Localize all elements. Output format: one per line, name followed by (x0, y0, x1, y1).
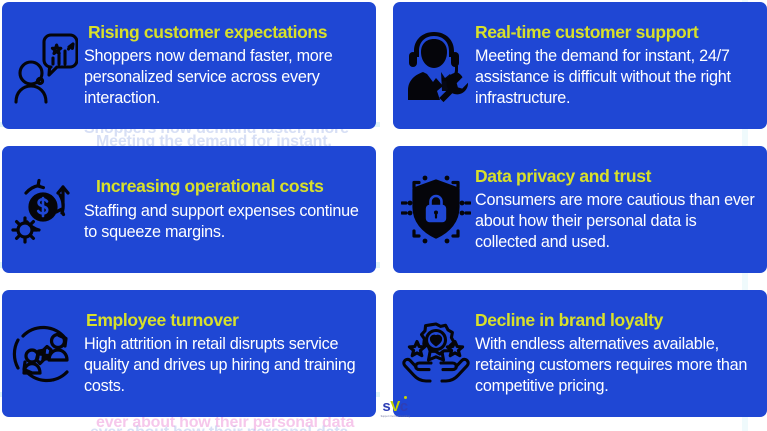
card-title: Decline in brand loyalty (475, 310, 757, 331)
card-description: Shoppers now demand faster, more persona… (84, 46, 366, 109)
card-real-time-customer-support[interactable]: Real-time customer support Meeting the d… (393, 2, 767, 129)
card-description: Consumers are more cautious than ever ab… (475, 190, 757, 253)
logo-letter-v: V (390, 398, 400, 415)
card-title: Real-time customer support (475, 22, 757, 43)
logo-tagline: Support Vector Consulting (380, 415, 409, 418)
employee-turnover-cycle-icon (8, 311, 82, 397)
logo-wordmark: sVc (382, 399, 407, 414)
card-body: Employee turnover High attrition in reta… (84, 310, 366, 398)
logo-letter-c: c (400, 398, 408, 415)
card-data-privacy-and-trust[interactable]: Data privacy and trust Consumers are mor… (393, 146, 767, 273)
card-title: Rising customer expectations (88, 22, 366, 43)
card-body: Decline in brand loyalty With endless al… (475, 310, 757, 398)
hands-holding-loyalty-badge-icon (399, 311, 473, 397)
shield-padlock-privacy-icon (399, 167, 473, 253)
card-description: Staffing and support expenses continue t… (84, 201, 366, 243)
card-decline-in-brand-loyalty[interactable]: Decline in brand loyalty With endless al… (393, 290, 767, 417)
card-description: High attrition in retail disrupts servic… (84, 334, 366, 397)
card-body: Increasing operational costs Staffing an… (84, 176, 366, 243)
challenges-card-grid: Rising customer expectations Shoppers no… (0, 0, 767, 431)
customer-expectations-icon (8, 23, 82, 109)
operational-cost-dollar-gear-icon (8, 167, 82, 253)
card-body: Rising customer expectations Shoppers no… (84, 22, 366, 110)
infographic-canvas: Rising customer expectationsReal-time cu… (0, 0, 767, 431)
card-description: Meeting the demand for instant, 24/7 ass… (475, 46, 757, 109)
card-title: Data privacy and trust (475, 166, 757, 187)
headset-support-agent-icon (399, 23, 473, 109)
svc-logo: sVc Support Vector Consulting (372, 399, 418, 425)
card-description: With endless alternatives available, ret… (475, 334, 757, 397)
logo-dot-icon (404, 396, 407, 399)
card-title: Employee turnover (86, 310, 366, 331)
card-body: Real-time customer support Meeting the d… (475, 22, 757, 110)
card-increasing-operational-costs[interactable]: Increasing operational costs Staffing an… (2, 146, 376, 273)
card-rising-customer-expectations[interactable]: Rising customer expectations Shoppers no… (2, 2, 376, 129)
card-title: Increasing operational costs (96, 176, 366, 197)
card-employee-turnover[interactable]: Employee turnover High attrition in reta… (2, 290, 376, 417)
card-body: Data privacy and trust Consumers are mor… (475, 166, 757, 254)
